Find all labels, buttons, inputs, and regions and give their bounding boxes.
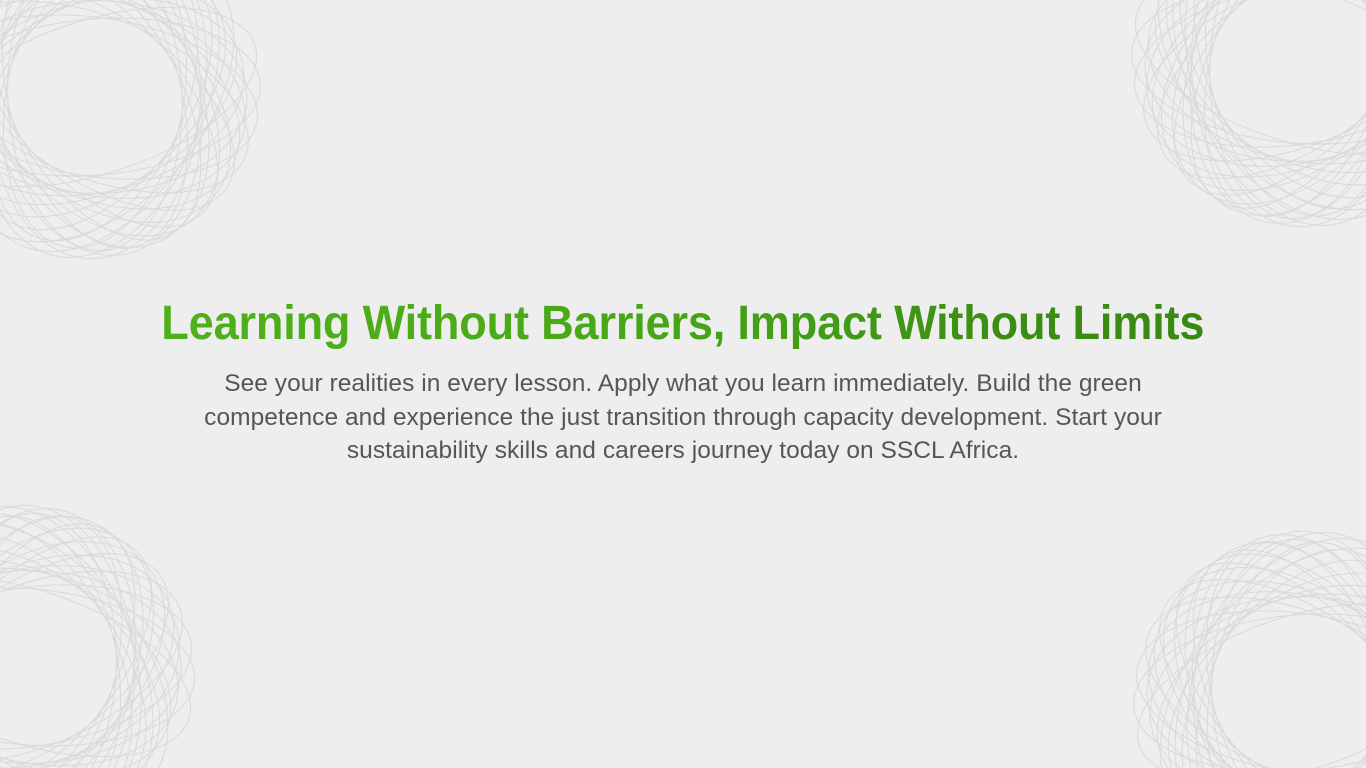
hero-slide: Learning Without Barriers, Impact Withou…: [0, 0, 1366, 768]
page-title: Learning Without Barriers, Impact Withou…: [161, 300, 1204, 349]
hero-subtitle: See your realities in every lesson. Appl…: [168, 367, 1198, 468]
hero-content: Learning Without Barriers, Impact Withou…: [0, 0, 1366, 768]
